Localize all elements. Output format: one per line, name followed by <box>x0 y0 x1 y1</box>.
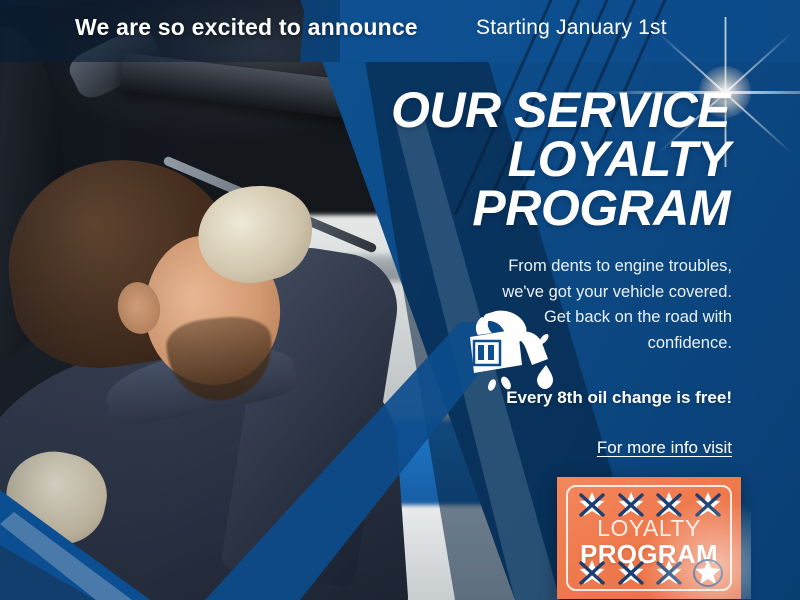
kicker-text: We are so excited to announce <box>75 14 418 41</box>
promotional-poster: We are so excited to announce Starting J… <box>0 0 800 600</box>
headline-line-2: LOYALTY <box>310 135 730 184</box>
more-info-link[interactable]: For more info visit <box>432 438 732 458</box>
stamp-reward <box>693 559 723 587</box>
oil-pour-icon <box>452 303 556 395</box>
stamp-stamped <box>654 559 684 587</box>
start-date-text: Starting January 1st <box>476 16 667 40</box>
headline-line-3: PROGRAM <box>310 184 730 233</box>
stamp-row-bottom <box>577 559 723 587</box>
headline-line-1: OUR SERVICE <box>310 86 730 135</box>
stamp-stamped <box>577 559 607 587</box>
stamp-stamped <box>616 559 646 587</box>
more-info-link-label: For more info visit <box>597 438 732 457</box>
loyalty-card: LOYALTY PROGRAM <box>557 477 741 599</box>
headline: OUR SERVICE LOYALTY PROGRAM <box>310 86 730 233</box>
loyalty-card-title: LOYALTY <box>557 517 741 540</box>
